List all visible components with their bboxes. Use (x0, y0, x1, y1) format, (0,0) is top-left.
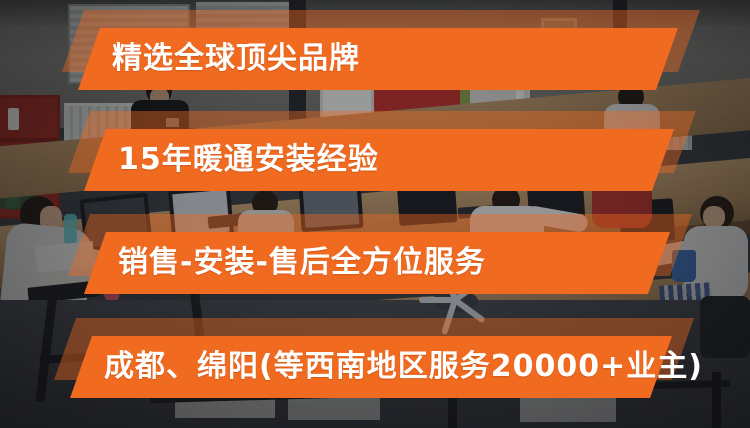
banner-text-2: 15年暖通安装经验 (118, 145, 379, 175)
banner-text-1: 精选全球顶尖品牌 (112, 44, 360, 74)
promo-banner-canvas: 精选全球顶尖品牌15年暖通安装经验销售-安装-售后全方位服务成都、绵阳(等西南地… (0, 0, 750, 428)
banner-text-4: 成都、绵阳(等西南地区服务20000+业主) (104, 352, 703, 382)
banner-group: 精选全球顶尖品牌15年暖通安装经验销售-安装-售后全方位服务成都、绵阳(等西南地… (0, 0, 750, 428)
banner-text-3: 销售-安装-售后全方位服务 (118, 248, 486, 278)
